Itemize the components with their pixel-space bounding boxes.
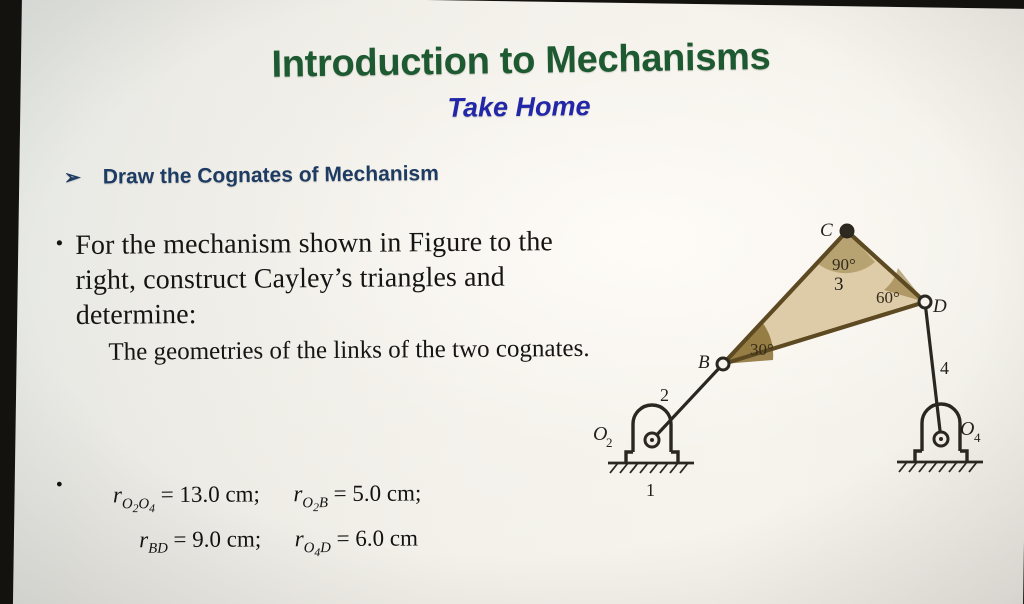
projected-slide-photo: Introduction to Mechanisms Take Home ➢ D…: [0, 0, 1024, 604]
bearing-feet-o2: [626, 452, 678, 463]
equation-lines: rO2O4 = 13.0 cm; rO2B = 5.0 cm; rBD = 9.…: [113, 465, 422, 557]
page-subtitle-text: Take Home: [447, 91, 590, 124]
coupler-triangle-outline: [723, 231, 925, 364]
eq1-sub-4: 4: [149, 502, 155, 515]
equations-block: • rO2O4 = 13.0 cm; rO2B = 5.0 cm; rBD = …: [56, 464, 617, 557]
eq2-value: = 5.0 cm;: [334, 480, 422, 506]
pivot-joint-o2: [645, 433, 659, 447]
label-o4-subscript: 4: [974, 430, 981, 445]
equation-line-1: rO2O4 = 13.0 cm; rO2B = 5.0 cm;: [113, 465, 422, 523]
equations-row: • rO2O4 = 13.0 cm; rO2B = 5.0 cm; rBD = …: [56, 464, 617, 557]
page-title-text: Introduction to Mechanisms: [271, 36, 771, 87]
pivot-joint-b: [717, 358, 729, 370]
label-b: B: [698, 352, 710, 373]
page-subtitle: Take Home: [0, 86, 1024, 130]
ground-pivot-o4: [897, 404, 983, 472]
eq2-sub-b: B: [319, 495, 328, 511]
label-o2-subscript: 2: [606, 435, 613, 450]
label-link-4: 4: [940, 358, 949, 378]
label-angle-c: 90°: [832, 255, 856, 274]
section-heading: ➢ Draw the Cognates of Mechanism: [64, 162, 439, 190]
section-heading-text: Draw the Cognates of Mechanism: [103, 162, 439, 190]
eq1-sub-o: O: [122, 496, 133, 512]
pivot-center-o4: [939, 437, 943, 441]
slide-content: Introduction to Mechanisms Take Home ➢ D…: [0, 0, 1024, 604]
eq3-sub-bd: BD: [148, 541, 168, 557]
rocker-link-4: [925, 302, 941, 439]
pivot-center-o2: [650, 438, 654, 442]
pivot-joint-o4: [934, 432, 948, 446]
bearing-feet-o4: [915, 451, 967, 462]
eq1-value: = 13.0 cm;: [161, 481, 260, 507]
eq4-value: = 6.0 cm: [337, 526, 418, 551]
bearing-arch-o2: [633, 405, 671, 452]
page-title: Introduction to Mechanisms: [0, 32, 1024, 91]
eq1-sub-o2: O: [138, 496, 149, 512]
label-link-1: 1: [646, 480, 655, 500]
angle-wedge-b: [723, 322, 773, 364]
eq3-value: = 9.0 cm;: [173, 526, 261, 552]
ground-pivot-o2: [608, 405, 694, 473]
angle-wedge-d: [884, 268, 925, 302]
eq4-symbol: r: [295, 526, 304, 551]
round-bullet-icon: •: [55, 228, 63, 258]
round-bullet-icon-equations: •: [56, 468, 63, 502]
label-angle-b: 30°: [750, 340, 774, 359]
ground-hatching-o4: [899, 462, 977, 472]
body-paragraph-row: • For the mechanism shown in Figure to t…: [55, 224, 596, 333]
label-o2: O: [593, 423, 607, 445]
label-angle-d: 60°: [876, 288, 900, 307]
body-content: • For the mechanism shown in Figure to t…: [55, 224, 596, 369]
ground-hatching-o2: [610, 463, 688, 473]
body-subpoint-text: The geometries of the links of the two c…: [108, 333, 596, 369]
arrow-bullet-icon: ➢: [64, 168, 81, 188]
body-paragraph-text: For the mechanism shown in Figure to the…: [75, 224, 596, 333]
label-d: D: [932, 296, 947, 317]
label-link-2: 2: [660, 385, 669, 405]
label-o4: O: [960, 418, 974, 440]
coupler-triangle: [723, 231, 925, 364]
bearing-arch-o4: [922, 404, 960, 451]
label-c: C: [820, 220, 833, 241]
eq1-symbol: r: [113, 482, 122, 507]
angle-wedge-c: [817, 231, 875, 273]
eq4-sub-d: D: [320, 540, 331, 556]
equation-line-2: rBD = 9.0 cm; rO4D = 6.0 cm: [139, 521, 422, 557]
crank-link-2: [652, 364, 723, 440]
pivot-joint-c: [841, 225, 854, 238]
label-link-3: 3: [834, 274, 844, 295]
coupler-link-3: [723, 231, 925, 364]
eq2-sub-o: O: [302, 495, 313, 511]
eq4-sub-o: O: [304, 540, 315, 556]
eq3-symbol: r: [139, 527, 148, 552]
pivot-joint-d: [919, 296, 931, 308]
